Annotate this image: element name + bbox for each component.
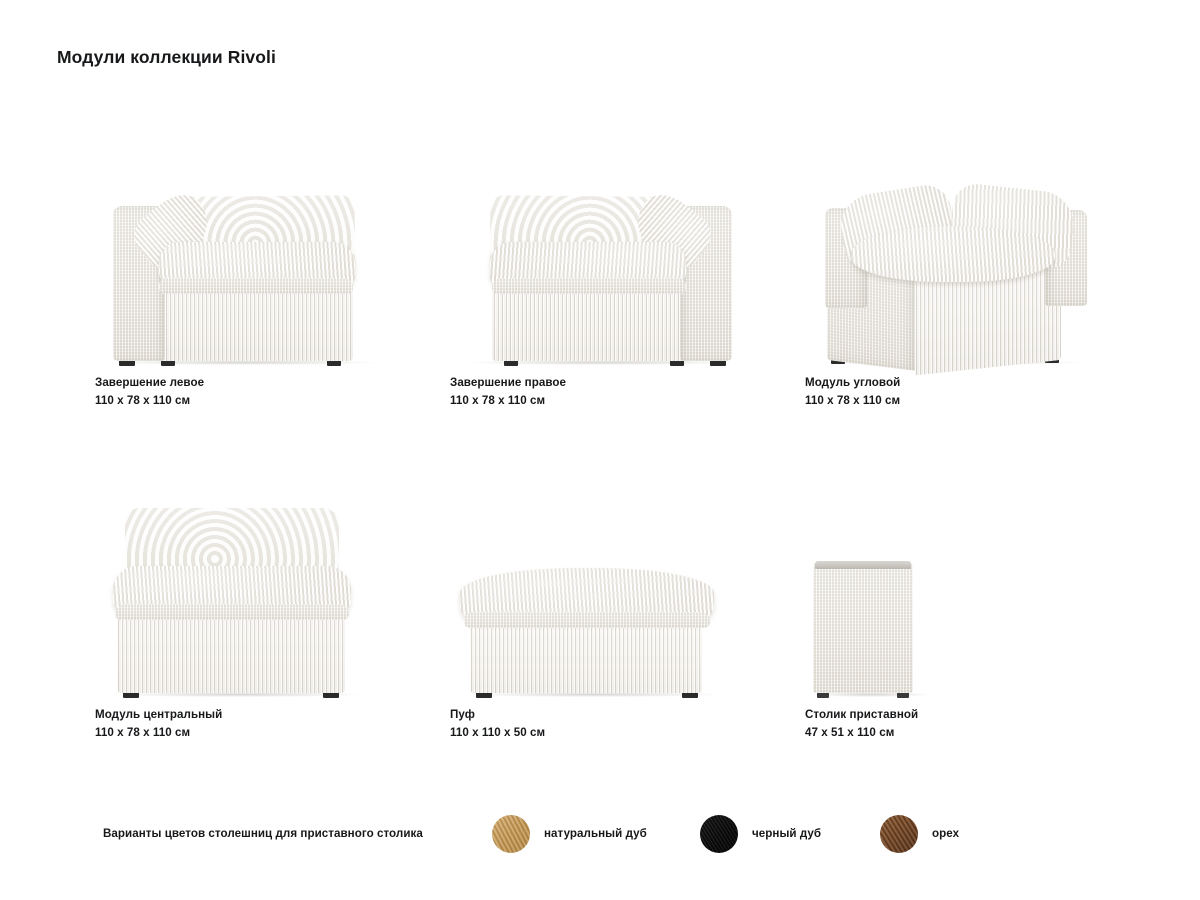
module-card-center[interactable]: Модуль центральный 110 x 78 x 110 см [95, 472, 451, 741]
module-name: Модуль угловой [805, 376, 1161, 390]
modules-grid: Завершение левое 110 x 78 x 110 см Завер… [0, 0, 1200, 900]
module-caption: Завершение правое 110 x 78 x 110 см [450, 376, 806, 409]
walnut-swatch-icon[interactable] [880, 815, 918, 853]
module-name: Модуль центральный [95, 708, 451, 722]
module-dimensions: 110 x 78 x 110 см [95, 726, 451, 740]
swatch-option-natural-oak[interactable]: натуральный дуб [492, 806, 647, 853]
module-dimensions: 110 x 78 x 110 см [805, 394, 1161, 408]
black-oak-swatch-icon[interactable] [700, 815, 738, 853]
module-card-side-table[interactable]: Столик приставной 47 x 51 x 110 см [805, 472, 1161, 741]
module-dimensions: 47 x 51 x 110 см [805, 726, 1161, 740]
side-table-icon [805, 472, 1105, 700]
module-name: Завершение правое [450, 376, 806, 390]
module-caption: Завершение левое 110 x 78 x 110 см [95, 376, 451, 409]
module-card-right-end[interactable]: Завершение правое 110 x 78 x 110 см [450, 140, 806, 409]
module-name: Завершение левое [95, 376, 451, 390]
module-caption: Пуф 110 x 110 x 50 см [450, 708, 806, 741]
module-dimensions: 110 x 78 x 110 см [450, 394, 806, 408]
module-name: Столик приставной [805, 708, 1161, 722]
ottoman-icon [450, 472, 750, 700]
swatch-option-walnut[interactable]: орех [880, 806, 959, 853]
sofa-center-module-icon [95, 472, 395, 700]
module-dimensions: 110 x 78 x 110 см [95, 394, 451, 408]
module-card-corner[interactable]: Модуль угловой 110 x 78 x 110 см [805, 140, 1161, 409]
module-caption: Модуль угловой 110 x 78 x 110 см [805, 376, 1161, 409]
swatch-label: натуральный дуб [544, 815, 647, 853]
swatch-label: орех [932, 815, 959, 853]
module-dimensions: 110 x 110 x 50 см [450, 726, 806, 740]
tabletop-color-legend: Варианты цветов столешниц для приставног… [0, 806, 1200, 862]
module-card-left-end[interactable]: Завершение левое 110 x 78 x 110 см [95, 140, 451, 409]
sofa-left-end-module-icon [95, 140, 395, 368]
legend-title: Варианты цветов столешниц для приставног… [103, 827, 423, 840]
sofa-right-end-module-icon [450, 140, 750, 368]
module-name: Пуф [450, 708, 806, 722]
natural-oak-swatch-icon[interactable] [492, 815, 530, 853]
swatch-option-black-oak[interactable]: черный дуб [700, 806, 821, 853]
sofa-corner-module-icon [805, 140, 1105, 368]
swatch-label: черный дуб [752, 815, 821, 853]
module-caption: Модуль центральный 110 x 78 x 110 см [95, 708, 451, 741]
module-caption: Столик приставной 47 x 51 x 110 см [805, 708, 1161, 741]
module-card-ottoman[interactable]: Пуф 110 x 110 x 50 см [450, 472, 806, 741]
